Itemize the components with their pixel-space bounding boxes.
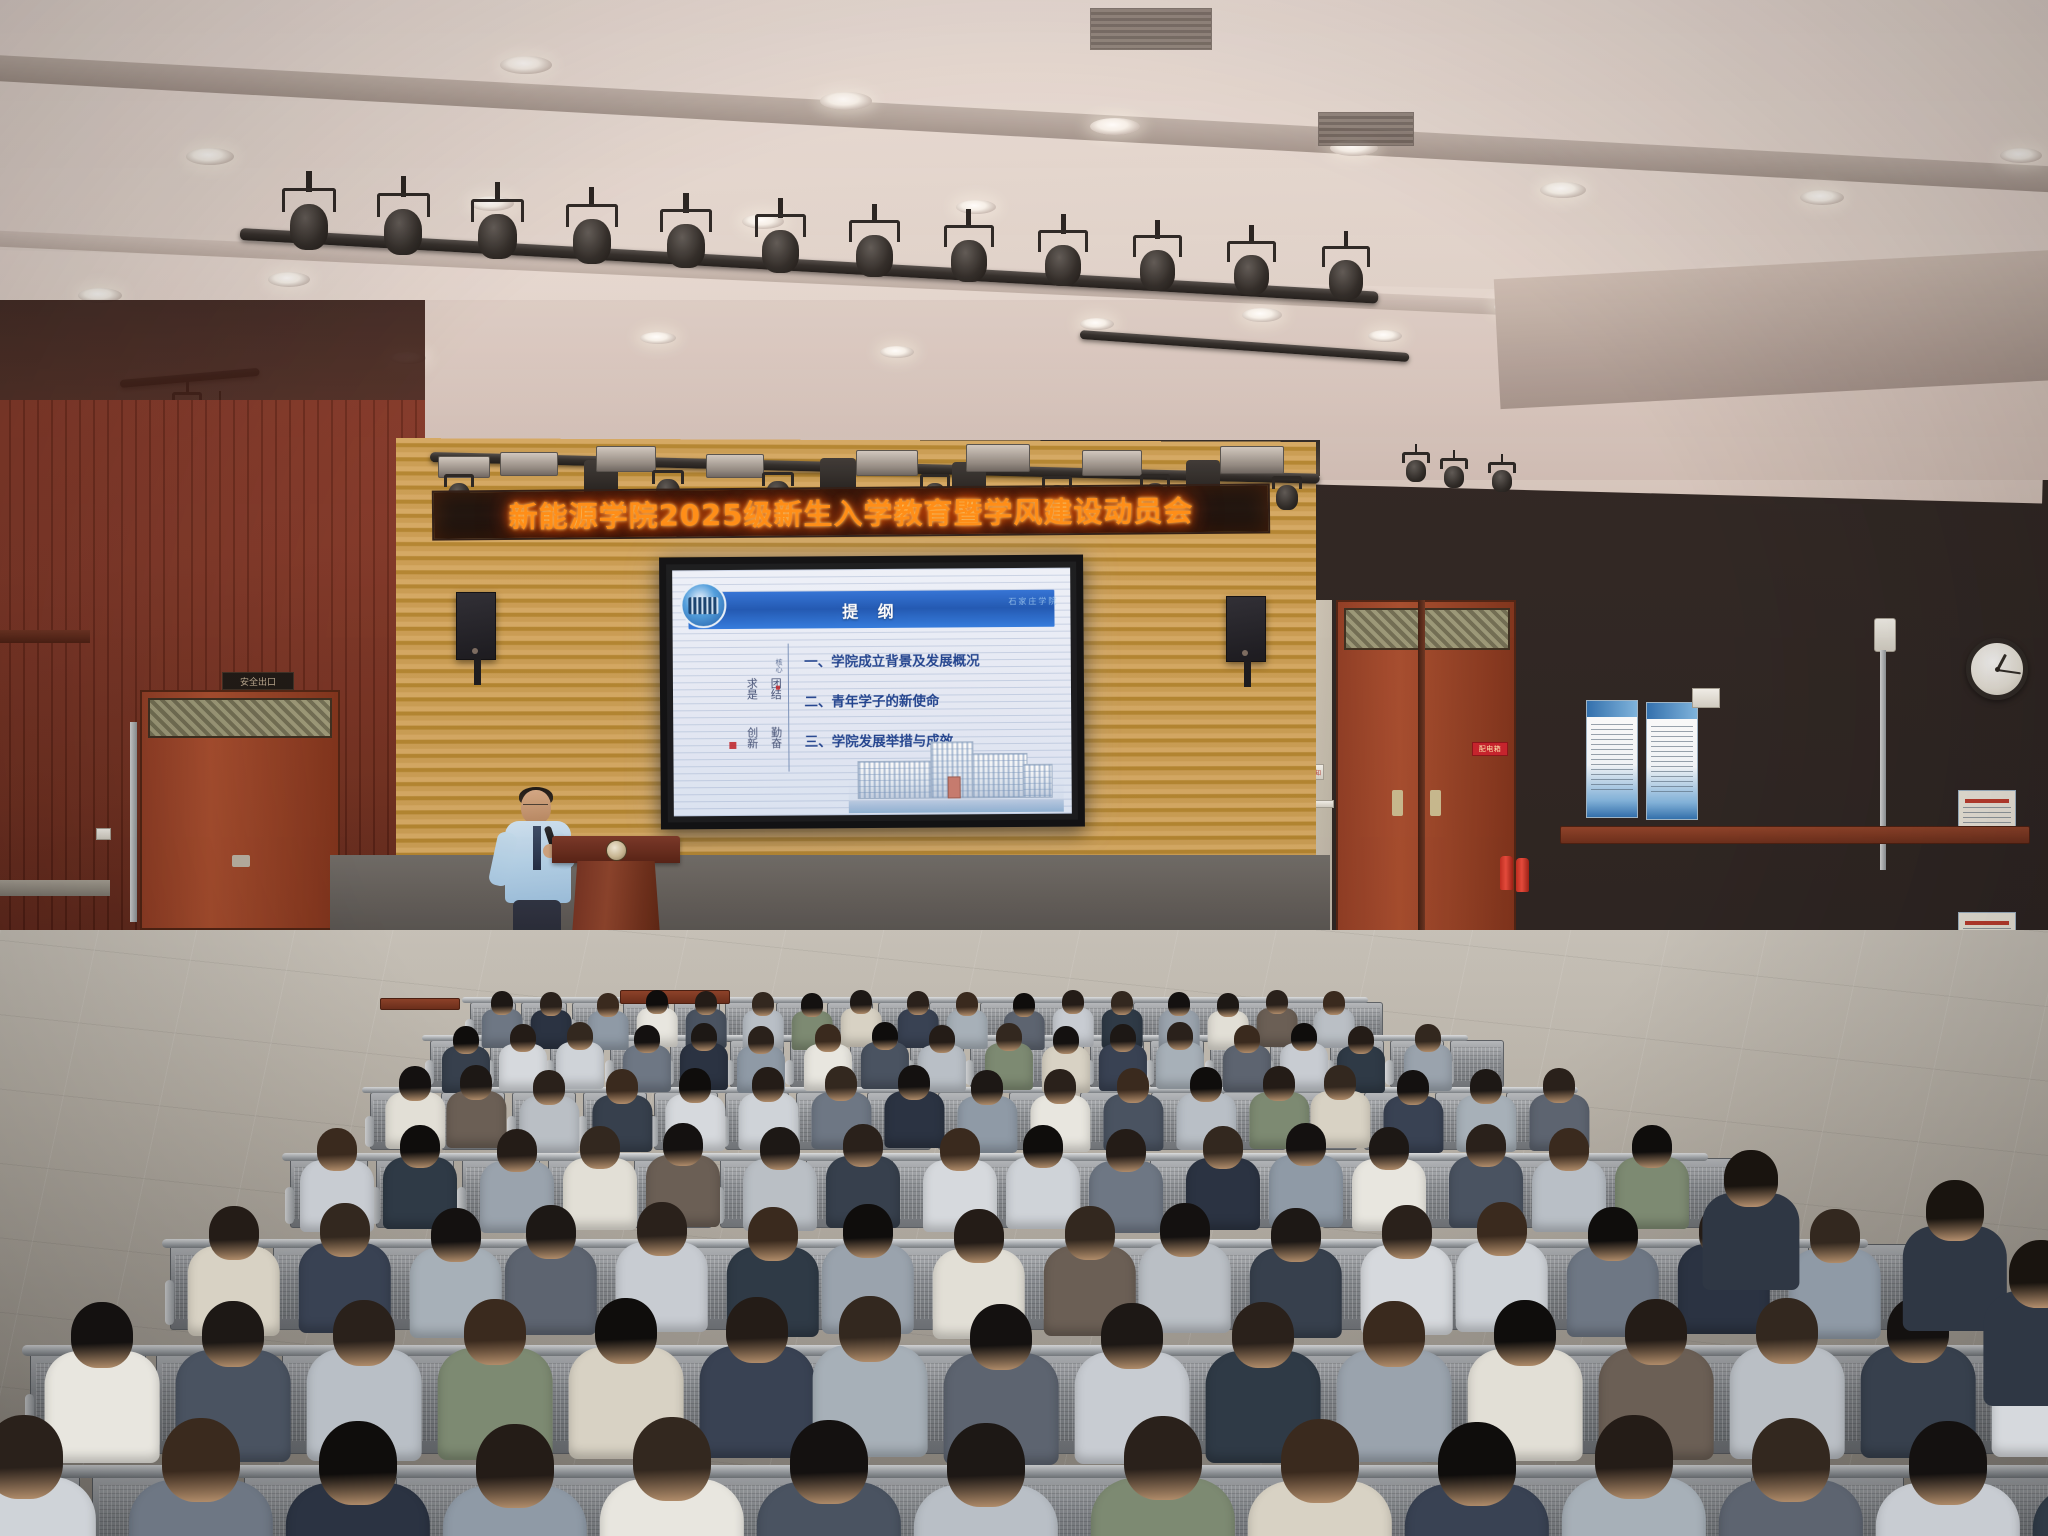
audience-head <box>907 991 929 1015</box>
audience-head <box>691 1023 717 1051</box>
audience-head <box>0 1415 63 1499</box>
seat-armrest <box>165 1280 174 1325</box>
clock-minute-hand <box>1997 669 2021 674</box>
audience-head <box>1549 1128 1589 1171</box>
audience-torso <box>2033 1486 2048 1536</box>
audience-head <box>1756 1298 1818 1365</box>
audience-head <box>752 1067 784 1102</box>
audience-head <box>1111 991 1133 1015</box>
audience-head <box>1438 1422 1516 1506</box>
audience-head <box>663 1123 703 1166</box>
audience-head <box>1588 1207 1638 1261</box>
audience-head <box>162 1418 240 1502</box>
audience-head <box>1203 1126 1243 1169</box>
audience-member <box>1874 1421 2022 1536</box>
clock-center <box>1995 667 2000 672</box>
audience-head <box>1466 1124 1506 1167</box>
rear-table <box>1560 826 2030 844</box>
audience-head <box>1117 1068 1149 1103</box>
audience-head <box>801 993 823 1017</box>
audience-head <box>1281 1419 1359 1503</box>
audience-head <box>202 1301 264 1368</box>
stage-speaker-left <box>456 592 496 660</box>
auditorium-photo: 安全出口 消防安全须知 配电箱 <box>0 0 2048 1536</box>
par-can-light <box>849 220 900 278</box>
audience-torso <box>1983 1291 2048 1406</box>
ceiling-downlight <box>956 200 996 214</box>
audience-head <box>929 1025 955 1053</box>
audience-head <box>1625 1299 1687 1366</box>
audience-head <box>1595 1415 1673 1499</box>
audience-head <box>1324 1065 1356 1100</box>
audience-head <box>597 993 619 1017</box>
audience-head <box>595 1298 657 1365</box>
audience-head <box>815 1024 841 1052</box>
spot-right-1 <box>1402 452 1430 482</box>
audience-member <box>755 1420 903 1536</box>
audience-head <box>317 1128 357 1171</box>
wall-clock <box>1966 638 2028 700</box>
door-left-post <box>130 722 137 922</box>
audience-head <box>646 990 668 1014</box>
audience-member <box>284 1421 432 1536</box>
door-right-handle-right[interactable] <box>1430 790 1441 816</box>
stage-wash-fixture <box>966 444 1030 472</box>
audience-head <box>1323 991 1345 1015</box>
audience-head <box>1470 1069 1502 1104</box>
audience-head <box>526 1205 576 1259</box>
calligraphy-col-4: 勤奋 <box>769 727 783 749</box>
audience-head <box>1477 1202 1527 1256</box>
audience-head <box>476 1424 554 1508</box>
audience-head <box>634 1025 660 1053</box>
audience-head <box>1724 1150 1778 1207</box>
par-can-light <box>1322 246 1370 300</box>
audience-head <box>872 1022 898 1050</box>
audience-head <box>1168 992 1190 1016</box>
par-can-light <box>660 209 712 268</box>
audience-head <box>1190 1067 1222 1102</box>
audience-head <box>971 1070 1003 1105</box>
led-banner: 新能源学院2025级新生入学教育暨学风建设动员会 <box>432 483 1270 540</box>
audience-head <box>1543 1068 1575 1103</box>
shelf-left-upper <box>0 630 90 643</box>
audience-head <box>1382 1205 1432 1259</box>
audience-member <box>1700 1150 1803 1290</box>
audience-head <box>748 1207 798 1261</box>
ceiling-downlight <box>1800 190 1844 205</box>
audience-head <box>1271 1208 1321 1262</box>
ceiling-downlight <box>880 346 914 358</box>
seat-armrest <box>285 1187 294 1223</box>
calligraphy-seal-small <box>776 685 780 689</box>
stage-speaker-right <box>1226 596 1266 662</box>
audience-head <box>320 1203 370 1257</box>
side-bench-2 <box>380 998 460 1010</box>
audience-head <box>1363 1301 1425 1368</box>
audience-head <box>431 1208 481 1262</box>
audience-head <box>1926 1180 1984 1241</box>
wall-fixture-right <box>1692 688 1720 708</box>
door-left-sign: 安全出口 <box>222 672 294 690</box>
audience-head <box>637 1202 687 1256</box>
ceiling-downlight <box>1080 318 1114 330</box>
audience-head <box>510 1024 536 1052</box>
audience-head <box>1160 1203 1210 1257</box>
audience-head <box>752 992 774 1016</box>
door-right-handle-left[interactable] <box>1392 790 1403 816</box>
ceiling-vent-2 <box>1318 112 1414 146</box>
audience-head <box>1062 990 1084 1014</box>
audience-member <box>598 1417 746 1536</box>
audience-head <box>1101 1303 1163 1370</box>
audience-head <box>567 1022 593 1050</box>
par-can-light <box>1133 235 1182 290</box>
audience-head <box>1397 1070 1429 1105</box>
door-right-transom <box>1344 608 1510 650</box>
par-can-light <box>1272 476 1302 510</box>
audience-head <box>850 990 872 1014</box>
audience-head <box>71 1302 133 1369</box>
audience-head <box>970 1304 1032 1371</box>
audience-head <box>1053 1026 1079 1054</box>
campus-building-illustration <box>848 737 1063 812</box>
audience-member <box>1717 1418 1865 1536</box>
ceiling-downlight <box>186 148 234 165</box>
ceiling-downlight <box>268 272 310 287</box>
wall-sensor <box>1874 618 1896 652</box>
par-can-light <box>282 188 336 250</box>
audience-head <box>760 1127 800 1170</box>
stage-wash-fixture <box>1220 446 1284 474</box>
audience-head <box>1110 1024 1136 1052</box>
audience-head <box>843 1124 883 1167</box>
audience-head <box>956 992 978 1016</box>
audience-member <box>1560 1415 1708 1536</box>
calligraphy-col-3: 创新 <box>745 727 759 749</box>
audience-head <box>399 1066 431 1101</box>
audience-head <box>333 1300 395 1367</box>
audience-member <box>2031 1424 2048 1536</box>
audience-head <box>1909 1421 1987 1505</box>
audience-head <box>460 1065 492 1100</box>
projector-screen: 提 纲 石家庄学院 求是 团结 创新 勤奋 核心 一、学院成立背景及发展概况 二… <box>659 555 1085 830</box>
podium-emblem-icon <box>606 840 627 861</box>
door-left-handle[interactable] <box>232 855 250 867</box>
fire-extinguisher-2 <box>1516 858 1529 892</box>
audience-member <box>1246 1419 1394 1536</box>
audience-head <box>2009 1240 2048 1308</box>
audience-head <box>1810 1209 1860 1263</box>
fire-extinguisher-1 <box>1500 856 1513 890</box>
audience-head <box>996 1023 1022 1051</box>
ceiling-downlight <box>820 92 872 110</box>
audience-head <box>606 1069 638 1104</box>
audience-head <box>633 1417 711 1501</box>
slide-divider <box>788 643 790 771</box>
audience-head <box>209 1206 259 1260</box>
audience-member <box>1403 1422 1551 1536</box>
electrical-box-sign: 配电箱 <box>1472 742 1508 756</box>
presentation-slide: 提 纲 石家庄学院 求是 团结 创新 勤奋 核心 一、学院成立背景及发展概况 二… <box>672 568 1072 817</box>
calligraphy-col-1: 求是 <box>745 678 759 700</box>
building-entrance <box>948 777 961 799</box>
audience-head <box>839 1296 901 1363</box>
audience-member <box>441 1424 589 1536</box>
audience-head <box>1013 993 1035 1017</box>
audience-member <box>1089 1416 1237 1536</box>
audience-head <box>898 1065 930 1100</box>
audience-head <box>464 1299 526 1366</box>
door-right-mullion <box>1418 600 1425 936</box>
audience-head <box>1494 1300 1556 1367</box>
audience-head <box>1167 1022 1193 1050</box>
audience-head <box>1023 1125 1063 1168</box>
audience-head <box>825 1066 857 1101</box>
audience-head <box>1291 1023 1317 1051</box>
ceiling-downlight <box>640 332 676 344</box>
audience-head <box>491 991 513 1015</box>
par-can-light <box>755 214 806 272</box>
slide-header-bar: 提 纲 <box>688 590 1054 629</box>
audience-head <box>1263 1066 1295 1101</box>
spot-right-2 <box>1440 458 1468 488</box>
led-banner-text: 新能源学院2025级新生入学教育暨学风建设动员会 <box>508 488 1193 536</box>
audience-member <box>912 1423 1060 1536</box>
audience-head <box>1234 1025 1260 1053</box>
audience-torso <box>1703 1193 1800 1290</box>
notice-board-right <box>1646 702 1698 820</box>
audience-head <box>533 1070 565 1105</box>
audience-head <box>679 1068 711 1103</box>
audience-head <box>580 1126 620 1169</box>
ceiling-downlight <box>1090 118 1140 135</box>
audience-head <box>726 1297 788 1364</box>
audience-head <box>940 1128 980 1171</box>
audience-head <box>1217 993 1239 1017</box>
outline-item: 二、青年学子的新使命 <box>804 689 1059 711</box>
ceiling-downlight <box>2000 148 2042 163</box>
outline-item: 一、学院成立背景及发展概况 <box>804 649 1059 671</box>
par-can-light <box>377 193 430 254</box>
ceiling-downlight <box>500 56 552 74</box>
audience-head <box>1415 1024 1441 1052</box>
par-can-light <box>471 199 524 260</box>
par-can-light <box>1227 241 1276 296</box>
ceiling-downlight <box>1368 330 1402 342</box>
ceiling-downlight <box>1540 182 1586 198</box>
par-can-light <box>944 225 994 282</box>
audience-head <box>1124 1416 1202 1500</box>
stage-wash-fixture <box>596 446 656 472</box>
audience-head <box>1266 990 1288 1014</box>
audience-member <box>1980 1240 2048 1406</box>
audience-head <box>1369 1127 1409 1170</box>
audience-head <box>1044 1069 1076 1104</box>
audience-head <box>453 1026 479 1054</box>
audience-head <box>1065 1206 1115 1260</box>
slide-watermark: 石家庄学院 <box>1008 596 1058 607</box>
audience-member <box>127 1418 275 1536</box>
audience-head <box>1348 1026 1374 1054</box>
audience-head <box>748 1026 774 1054</box>
par-can-light <box>1038 230 1088 286</box>
door-left-transom <box>148 698 332 738</box>
audience-head <box>1232 1302 1294 1369</box>
slide-title: 提 纲 <box>842 597 901 621</box>
audience-head <box>1106 1129 1146 1172</box>
audience-head <box>497 1129 537 1172</box>
notice-board-left <box>1586 700 1638 818</box>
audience-head <box>954 1209 1004 1263</box>
stage-wash-fixture <box>706 454 764 478</box>
calligraphy-annotation: 核心 <box>774 658 783 672</box>
wall-switch-left[interactable] <box>96 828 111 840</box>
audience-head <box>790 1420 868 1504</box>
stage-wash-fixture <box>500 452 558 476</box>
stage-wash-fixture <box>1082 450 1142 476</box>
audience-head <box>947 1423 1025 1507</box>
calligraphy-seal <box>729 742 736 749</box>
door-right[interactable] <box>1336 600 1516 936</box>
audience-head <box>319 1421 397 1505</box>
audience-head <box>1632 1125 1672 1168</box>
ceiling-downlight <box>1242 308 1282 322</box>
stage-wash-fixture <box>856 450 918 476</box>
ceiling-vent-1 <box>1090 8 1212 50</box>
audience-head <box>1286 1123 1326 1166</box>
audience-head <box>540 992 562 1016</box>
par-can-light <box>566 204 618 264</box>
audience-head <box>400 1125 440 1168</box>
audience-member <box>0 1415 98 1536</box>
audience-head <box>1752 1418 1830 1502</box>
shelf-left <box>0 880 110 896</box>
audience-head <box>843 1204 893 1258</box>
audience-head <box>695 991 717 1015</box>
